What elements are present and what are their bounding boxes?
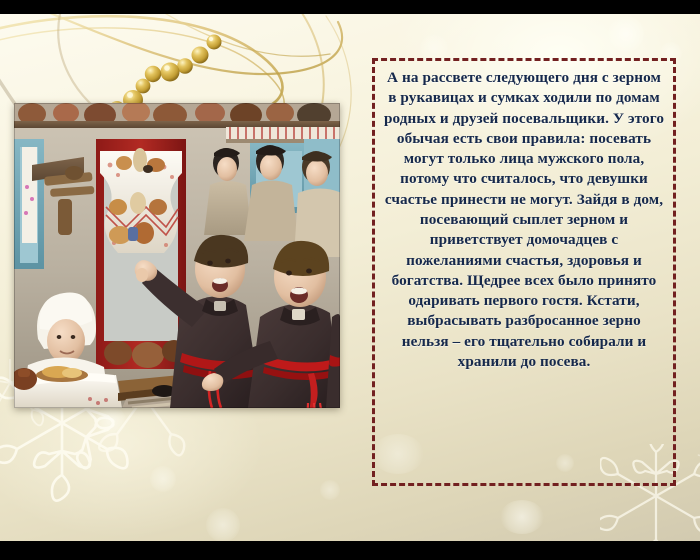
text-panel-body: А на рассвете следующего дня с зерном в … [382,68,666,476]
letterbox-bar-top [0,0,700,14]
letterbox-bar-bottom [0,541,700,560]
photo-posevalshchiki [14,103,340,408]
bokeh-light [150,466,176,492]
text-panel: А на рассвете следующего дня с зерном в … [372,58,676,486]
bokeh-light [500,500,544,534]
bokeh-light [96,406,126,436]
slide-root: А на рассвете следующего дня с зерном в … [0,0,700,560]
tradition-paragraph: А на рассвете следующего дня с зерном в … [382,68,666,372]
bokeh-light [206,508,240,541]
bokeh-light [608,16,644,52]
bokeh-light [320,480,340,500]
